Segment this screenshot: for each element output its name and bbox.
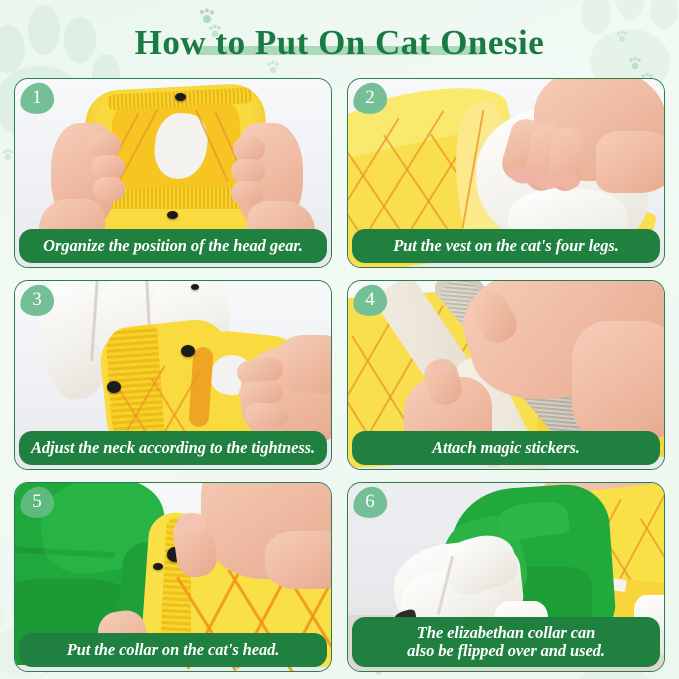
paw-print-icon: [2, 148, 14, 160]
step-number-4: 4: [353, 285, 387, 316]
step-caption-line: Attach magic stickers.: [432, 438, 580, 458]
step-number-badge-2: 2: [353, 83, 387, 114]
step-number-1: 1: [20, 83, 54, 114]
step-caption-1: Organize the position of the head gear.: [19, 229, 327, 263]
step-panel-5[interactable]: 5 Put the collar on the cat's head.: [14, 482, 332, 672]
step-caption-2: Put the vest on the cat's four legs.: [352, 229, 660, 263]
step-number-3: 3: [20, 285, 54, 316]
steps-grid: 1 Organize the position of the head gear…: [14, 78, 665, 672]
step-caption-line: Adjust the neck according to the tightne…: [31, 438, 315, 458]
step-number-5: 5: [20, 487, 54, 518]
step-panel-4[interactable]: 4 Attach magic stickers.: [347, 280, 665, 470]
step-caption-4: Attach magic stickers.: [352, 431, 660, 465]
step-caption-3: Adjust the neck according to the tightne…: [19, 431, 327, 465]
step-number-6: 6: [353, 487, 387, 518]
step-panel-6[interactable]: 6 The elizabethan collar can also be fli…: [347, 482, 665, 672]
step-number-badge-6: 6: [353, 487, 387, 518]
step-number-badge-1: 1: [20, 83, 54, 114]
step-caption-line: Put the vest on the cat's four legs.: [393, 236, 619, 256]
step-caption-line: The elizabethan collar can: [407, 624, 605, 642]
step-caption-line: Organize the position of the head gear.: [43, 236, 303, 256]
step-panel-3[interactable]: 3 Adjust the neck according to the tight…: [14, 280, 332, 470]
step-number-badge-4: 4: [353, 285, 387, 316]
step-caption-6: The elizabethan collar can also be flipp…: [352, 617, 660, 667]
page-title: How to Put On Cat Onesie: [135, 25, 545, 60]
step-number-badge-5: 5: [20, 487, 54, 518]
step-panel-2[interactable]: 2 Put the vest on the cat's four legs.: [347, 78, 665, 268]
step-caption-5: Put the collar on the cat's head.: [19, 633, 327, 667]
step-caption-line: Put the collar on the cat's head.: [67, 640, 280, 660]
step-caption-line: also be flipped over and used.: [407, 642, 605, 660]
step-number-2: 2: [353, 83, 387, 114]
step-panel-1[interactable]: 1 Organize the position of the head gear…: [14, 78, 332, 268]
page-title-container: How to Put On Cat Onesie: [0, 14, 679, 70]
infographic-page: How to Put On Cat Onesie: [0, 0, 679, 679]
step-number-badge-3: 3: [20, 285, 54, 316]
